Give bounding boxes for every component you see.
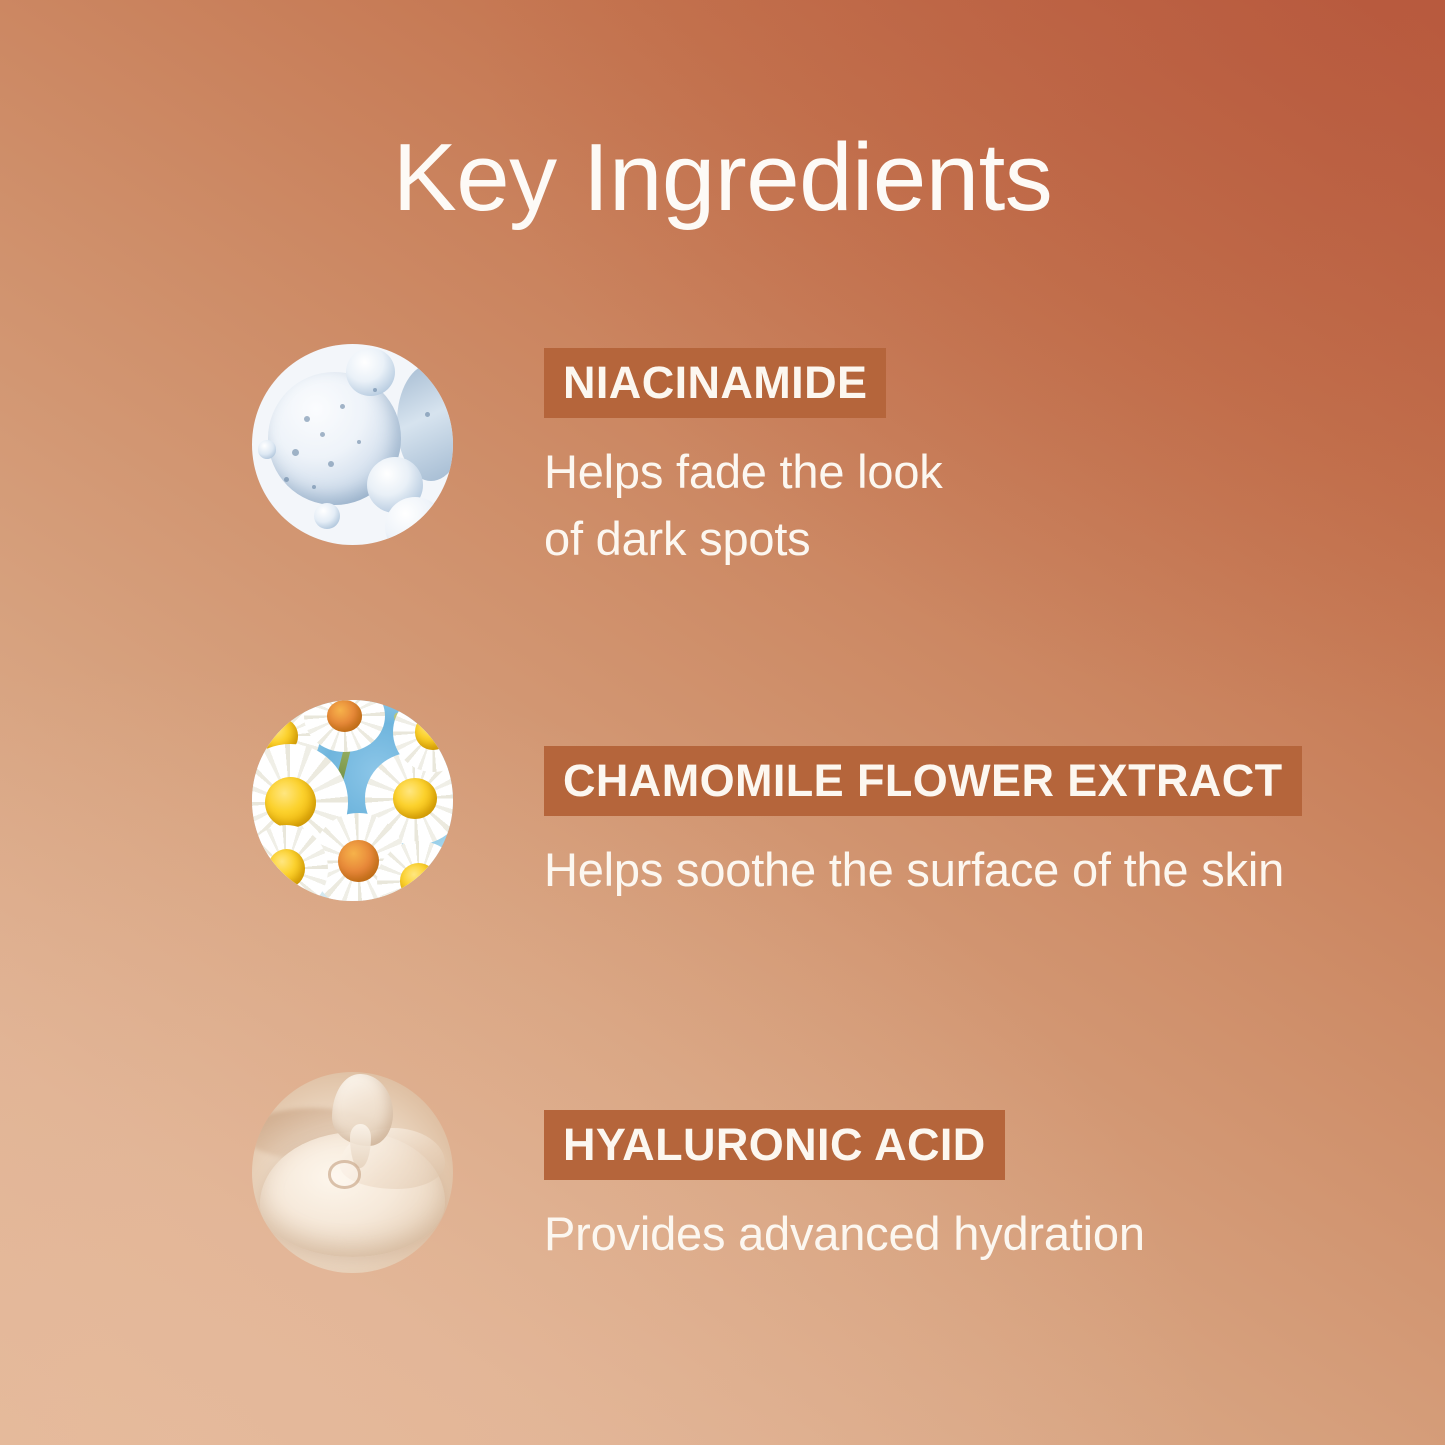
ingredient-name-badge: CHAMOMILE FLOWER EXTRACT xyxy=(544,746,1302,816)
blue-gel-bubbles-icon xyxy=(252,344,453,545)
chamomile-flowers-icon xyxy=(252,700,453,901)
ingredient-copy: CHAMOMILE FLOWER EXTRACT Helps soothe th… xyxy=(544,746,1302,903)
ingredient-description: Helps fade the look of dark spots xyxy=(544,438,943,572)
page-title: Key Ingredients xyxy=(0,126,1445,230)
ingredient-name-badge: NIACINAMIDE xyxy=(544,348,886,418)
ingredient-copy: HYALURONIC ACID Provides advanced hydrat… xyxy=(544,1110,1145,1267)
key-ingredients-poster: Key Ingredients xyxy=(0,0,1445,1445)
ingredient-name-badge: HYALURONIC ACID xyxy=(544,1110,1005,1180)
ingredient-description: Helps soothe the surface of the skin xyxy=(544,836,1302,903)
ingredient-copy: NIACINAMIDE Helps fade the look of dark … xyxy=(544,348,943,572)
ingredient-description: Provides advanced hydration xyxy=(544,1200,1145,1267)
clear-gel-droplet-icon xyxy=(252,1072,453,1273)
